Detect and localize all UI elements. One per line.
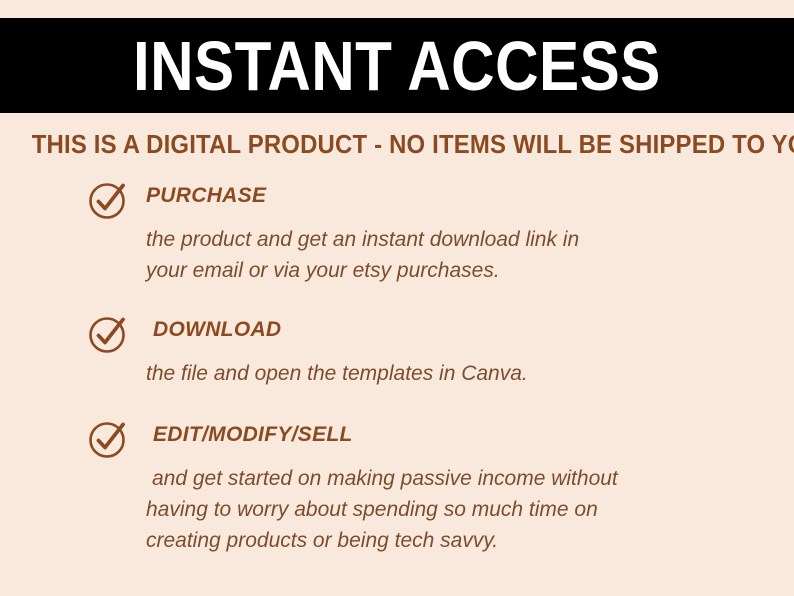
page-title: INSTANT ACCESS <box>133 31 661 101</box>
check-circle-icon <box>86 178 132 222</box>
check-circle-icon <box>86 312 132 356</box>
list-item: DOWNLOAD the file and open the templates… <box>0 312 794 389</box>
digital-product-notice: THIS IS A DIGITAL PRODUCT - NO ITEMS WIL… <box>32 129 762 159</box>
list-item-heading: PURCHASE <box>132 178 266 214</box>
check-item-header-row: DOWNLOAD <box>0 312 794 356</box>
list-item-heading: DOWNLOAD <box>132 312 281 348</box>
header-banner: INSTANT ACCESS <box>0 18 794 113</box>
checklist: PURCHASE the product and get an instant … <box>0 178 794 556</box>
list-item-body-line: creating products or being tech savvy. <box>146 525 794 556</box>
list-item-heading: EDIT/MODIFY/SELL <box>132 417 353 453</box>
check-item-header-row: PURCHASE <box>0 178 794 222</box>
list-item: EDIT/MODIFY/SELL and get started on maki… <box>0 417 794 556</box>
list-item-body: and get started on making passive income… <box>146 463 794 556</box>
check-item-header-row: EDIT/MODIFY/SELL <box>0 417 794 461</box>
list-item-body: the file and open the templates in Canva… <box>146 358 794 389</box>
list-item-body-line: your email or via your etsy purchases. <box>146 255 794 286</box>
list-item-body-line: the file and open the templates in Canva… <box>146 358 794 389</box>
list-item-body-line: having to worry about spending so much t… <box>146 494 794 525</box>
list-item-body-line: and get started on making passive income… <box>146 463 794 494</box>
list-item-body-line: the product and get an instant download … <box>146 224 794 255</box>
list-item: PURCHASE the product and get an instant … <box>0 178 794 286</box>
check-circle-icon <box>86 417 132 461</box>
list-item-body: the product and get an instant download … <box>146 224 794 286</box>
instant-access-slide: INSTANT ACCESS THIS IS A DIGITAL PRODUCT… <box>0 0 794 596</box>
